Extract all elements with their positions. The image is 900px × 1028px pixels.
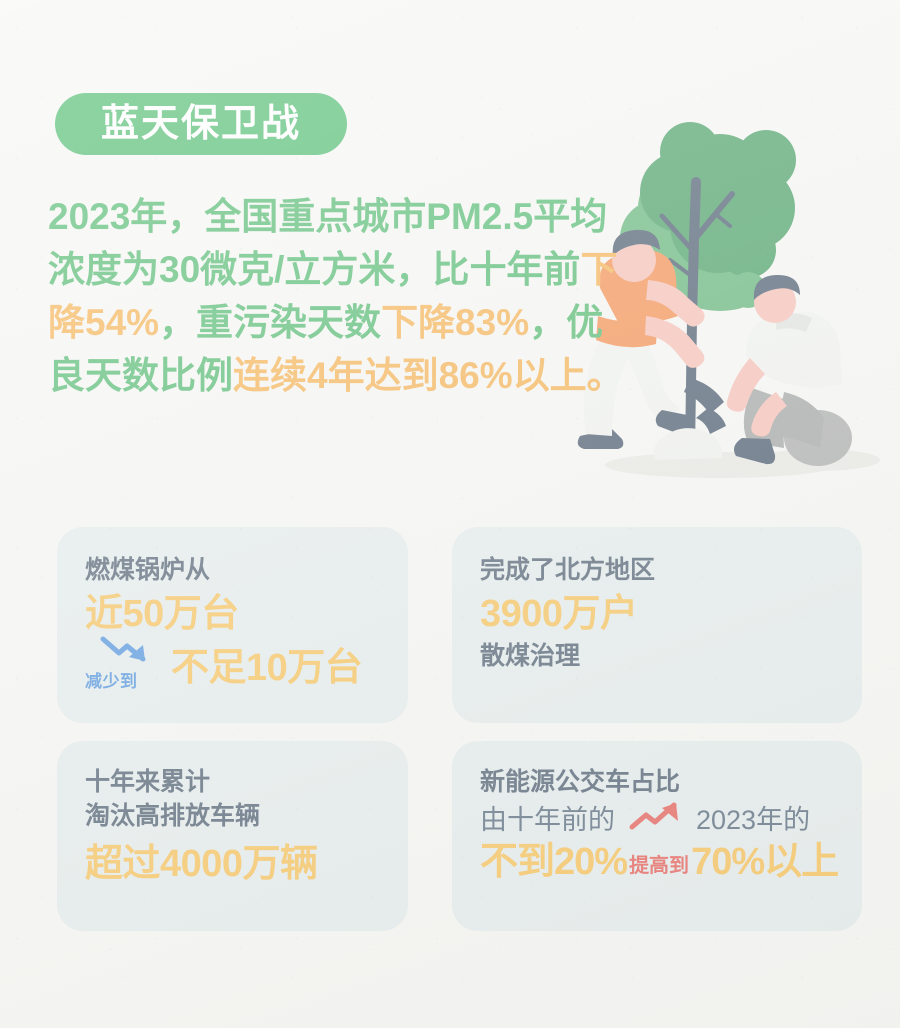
vehicles-line-1: 十年来累计 <box>85 765 318 799</box>
bus-title: 新能源公交车占比 <box>480 765 840 799</box>
title-badge-label: 蓝天保卫战 <box>101 105 301 143</box>
headline-segment-8-highlight: 连续4年达到86%以上。 <box>233 355 624 396</box>
headline-paragraph: 2023年，全国重点城市PM2.5平均浓度为30微克/立方米，比十年前下降54%… <box>48 190 638 402</box>
bus-arrow-label: 提高到 <box>627 849 691 878</box>
bus-to-label: 2023年的 <box>696 803 810 837</box>
coal-title: 完成了北方地区 <box>480 553 655 587</box>
boilers-from-value: 近50万台 <box>85 591 362 637</box>
vehicles-value: 超过4000万辆 <box>85 841 318 887</box>
coal-subtitle: 散煤治理 <box>480 639 655 673</box>
stat-card-boilers: 燃煤锅炉从 近50万台 减少到 不足10万台 <box>57 527 408 723</box>
headline-segment-1: 2023年，全国重点城市PM2.5 <box>48 196 533 237</box>
boilers-arrow-group: 减少到 <box>85 639 171 691</box>
stat-card-vehicles: 十年来累计 淘汰高排放车辆 超过4000万辆 <box>57 741 408 931</box>
headline-segment-5: ，重污染天数 <box>159 302 381 343</box>
boilers-title: 燃煤锅炉从 <box>85 553 362 587</box>
vehicles-line-2: 淘汰高排放车辆 <box>85 799 318 833</box>
title-badge: 蓝天保卫战 <box>55 93 347 155</box>
headline-segment-6-highlight: 下降83% <box>381 302 529 343</box>
coal-value: 3900万户 <box>480 591 655 637</box>
stat-card-bus: 新能源公交车占比 由十年前的 2023年的 不到20% 提高到 70%以上 <box>452 741 862 931</box>
boilers-arrow-label: 减少到 <box>85 667 138 692</box>
bus-from-label: 由十年前的 <box>480 803 615 837</box>
bus-from-value: 不到20% <box>480 839 627 885</box>
stat-card-coal: 完成了北方地区 3900万户 散煤治理 <box>452 527 862 723</box>
boilers-to-value: 不足10万台 <box>171 645 362 691</box>
arrow-up-icon <box>628 799 690 838</box>
bus-to-value: 70%以上 <box>691 839 838 885</box>
headline-segment-3: 十年前 <box>469 249 580 290</box>
